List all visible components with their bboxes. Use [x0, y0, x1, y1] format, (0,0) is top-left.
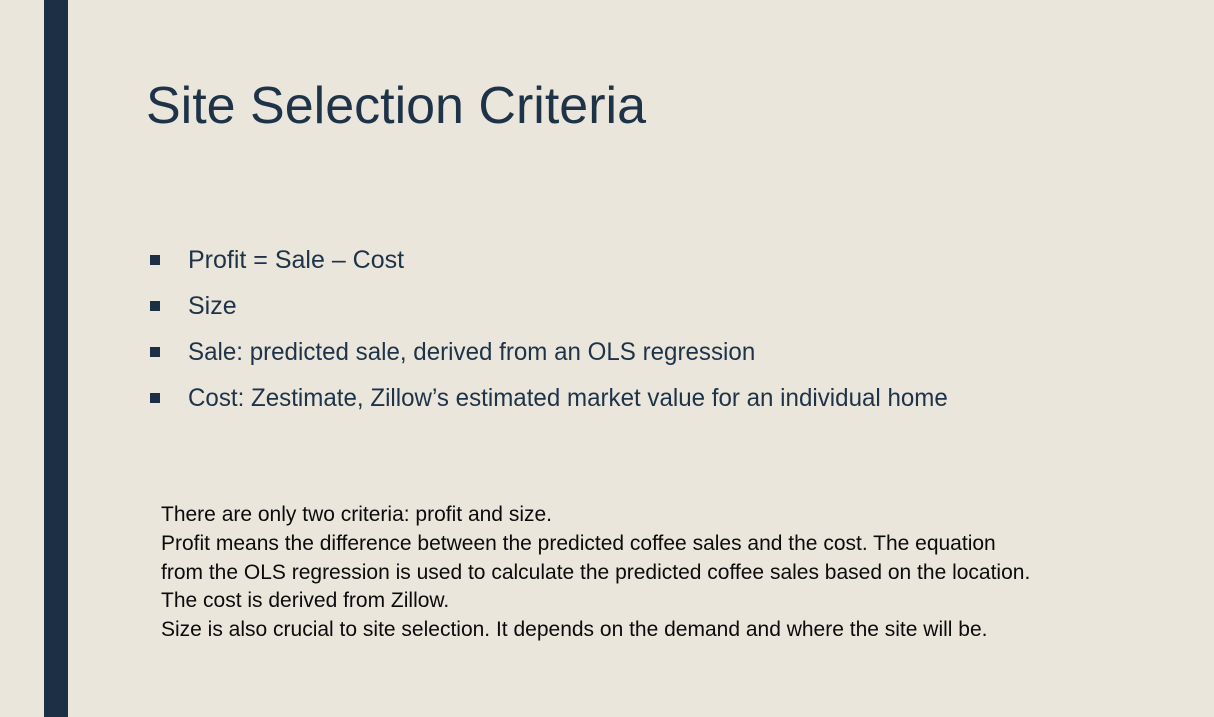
speaker-notes: There are only two criteria: profit and … [161, 501, 1171, 645]
bullet-text: Size [188, 290, 237, 322]
presentation-slide: Site Selection Criteria Profit = Sale – … [0, 0, 1214, 717]
bullet-text: Cost: Zestimate, Zillow’s estimated mark… [188, 382, 948, 414]
notes-line: Profit means the difference between the … [161, 530, 1171, 559]
left-accent-bar [44, 0, 68, 717]
notes-line: Size is also crucial to site selection. … [161, 616, 1171, 645]
list-item: Sale: predicted sale, derived from an OL… [146, 336, 1146, 382]
notes-line: The cost is derived from Zillow. [161, 587, 1171, 616]
page-title: Site Selection Criteria [146, 74, 1086, 138]
list-item: Cost: Zestimate, Zillow’s estimated mark… [146, 382, 1146, 428]
notes-line: from the OLS regression is used to calcu… [161, 559, 1171, 588]
bullet-list: Profit = Sale – Cost Size Sale: predicte… [146, 244, 1146, 428]
bullet-text: Profit = Sale – Cost [188, 244, 404, 276]
square-bullet-icon [150, 393, 160, 403]
square-bullet-icon [150, 347, 160, 357]
notes-line: There are only two criteria: profit and … [161, 501, 1171, 530]
list-item: Profit = Sale – Cost [146, 244, 1146, 290]
square-bullet-icon [150, 255, 160, 265]
square-bullet-icon [150, 301, 160, 311]
bullet-text: Sale: predicted sale, derived from an OL… [188, 336, 755, 368]
list-item: Size [146, 290, 1146, 336]
